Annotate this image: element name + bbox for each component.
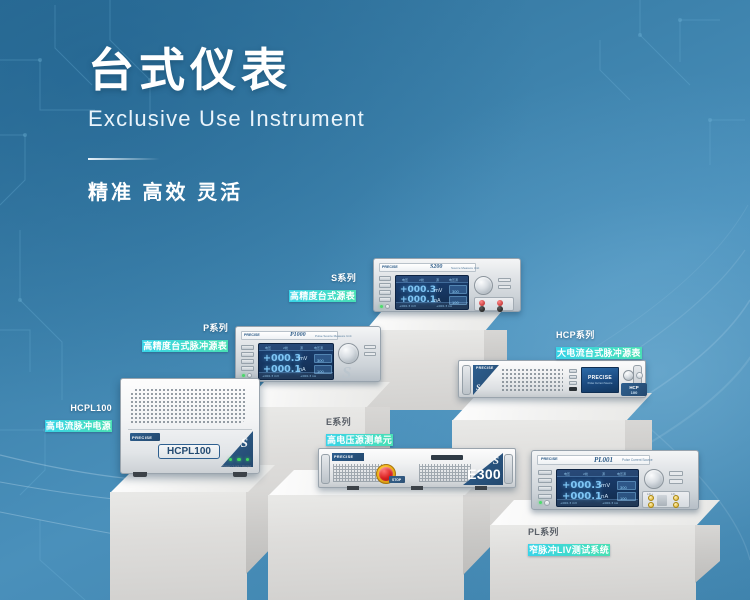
page-tagline: 精准 高效 灵活	[88, 176, 608, 205]
s-range-top: 300	[452, 289, 459, 294]
p-series-model-sub: Pulse Source Measure Unit	[315, 334, 352, 338]
pl-tab-1: 2线	[583, 472, 588, 476]
hcpl100-model-plate: HCPL100	[158, 444, 220, 459]
e300-vent-right	[419, 464, 471, 482]
p-series-screen: 电压 2线 源 电压源 +000.3 mV +000.1 nA 300 100 …	[258, 343, 334, 380]
s-tab-0: 电压	[402, 278, 408, 282]
e300-foot-3	[475, 486, 487, 490]
s-tab-2: 源	[436, 278, 439, 282]
device-s-series[interactable]: PRECISE S200 Source Measure Unit 电压 2线 源…	[373, 258, 521, 312]
hcpl100-vent-grille	[130, 388, 247, 424]
hcpl100-divider	[128, 429, 252, 430]
port-pd-plus[interactable]	[648, 502, 654, 508]
hcp-logo-mark: S	[476, 383, 480, 392]
page-subtitle-en: Exclusive Use Instrument	[88, 106, 608, 132]
s-tab-1: 2线	[419, 278, 424, 282]
hcpl100-foot-left	[133, 472, 147, 477]
callout-s-series-title: S系列	[256, 272, 356, 284]
pl-tab-2: 源	[602, 472, 605, 476]
p-series-logo-mark: S	[342, 363, 351, 383]
callout-e-series: E系列 高电压源测单元	[326, 416, 436, 450]
port-pd-minus[interactable]	[673, 502, 679, 508]
led-power	[229, 458, 232, 461]
s-series-softkey-2[interactable]	[379, 283, 391, 288]
header-divider	[88, 158, 160, 160]
s-series-aux-port[interactable]	[498, 285, 511, 289]
p-primary-unit: mV	[299, 356, 307, 362]
terminal-force-lo[interactable]	[479, 306, 485, 312]
p-series-softkey-1[interactable]	[241, 345, 254, 350]
p-footer-left-value: +000.3 mV	[262, 374, 279, 378]
e300-handle-right[interactable]	[504, 454, 513, 484]
p-range-top-box: 300	[314, 354, 332, 363]
s-tab-3: 电压源	[449, 278, 458, 282]
pl-series-softkey-4[interactable]	[538, 494, 552, 499]
callout-hcp-series-title: HCP系列	[556, 329, 656, 341]
pl-series-port-panel: LD+ LD-	[642, 491, 690, 508]
hcpl100-indicator-leds	[229, 458, 249, 461]
pl-series-rotary-knob[interactable]	[644, 469, 664, 489]
p-series-brand: PRECISE	[244, 333, 260, 337]
callout-hcpl100-desc: 高电流脉冲电源	[45, 420, 112, 432]
banner-header: 台式仪表 Exclusive Use Instrument 精准 高效 灵活	[88, 44, 608, 205]
pl-series-softkey-3[interactable]	[538, 486, 552, 491]
s-series-model-sub: Source Measure Unit	[451, 266, 479, 270]
hcpl100-indicator-label: Power / Lock / Output	[222, 464, 251, 468]
terminal-force-hi[interactable]	[479, 300, 485, 306]
e300-status-leds	[431, 455, 463, 460]
hcpl100-foot-right	[233, 472, 247, 477]
s-range-top-box: 300	[449, 285, 467, 294]
callout-hcpl100-title: HCPL100	[10, 402, 112, 414]
p-series-power-led	[242, 374, 245, 377]
p-footer-right-value: +000.3 nA	[300, 374, 316, 378]
pl-tab-3: 电压源	[617, 472, 626, 476]
p-series-softkey-3[interactable]	[241, 359, 254, 364]
s-series-softkey-1[interactable]	[379, 276, 391, 281]
p-tab-3: 电压源	[314, 346, 323, 350]
p-tab-0: 电压	[265, 346, 271, 350]
p-series-rotary-knob[interactable]	[338, 343, 359, 364]
s-series-power-button[interactable]	[385, 304, 390, 309]
callout-p-series: P系列 高精度台式脉冲源表	[110, 322, 228, 356]
callout-hcp-series: HCP系列 大电流台式脉冲源表	[556, 329, 656, 363]
callout-p-series-desc: 高精度台式脉冲源表	[142, 340, 228, 352]
pl-series-power-led	[539, 501, 542, 504]
e300-brand: PRECISE	[334, 455, 353, 459]
p-series-usb-port[interactable]	[364, 345, 376, 349]
pl-series-softkey-2[interactable]	[538, 478, 552, 483]
hcp-button-1[interactable]	[569, 369, 577, 373]
banner-stage: 台式仪表 Exclusive Use Instrument 精准 高效 灵活	[0, 0, 750, 600]
device-hcp-series[interactable]: PRECISE S PRECISE Pulse Current Source H…	[458, 360, 646, 398]
pl-series-brand: PRECISE	[541, 457, 558, 461]
pl-range-top-box: 300	[617, 481, 636, 490]
p-range-top: 300	[317, 358, 324, 363]
terminal-sense-hi[interactable]	[497, 300, 503, 306]
s-series-terminal-block	[474, 297, 514, 311]
p-series-softkey-4[interactable]	[241, 366, 254, 371]
callout-s-series-desc: 高精度台式源表	[289, 290, 356, 302]
device-pl-series[interactable]: PRECISE PL001 Pulse Current Source 电压 2线…	[531, 450, 699, 510]
s-primary-value: +000.3	[400, 285, 436, 295]
s-series-brand: PRECISE	[382, 265, 398, 269]
device-p-series[interactable]: PRECISE P1000 Pulse Source Measure Unit …	[235, 326, 381, 382]
terminal-sense-lo[interactable]	[497, 306, 503, 312]
s-series-softkey-3[interactable]	[379, 290, 391, 295]
pl-series-model: PL001	[594, 456, 613, 464]
hcp-button-3[interactable]	[569, 381, 577, 385]
e300-model: E300	[467, 466, 501, 482]
p-primary-value: +000.3	[263, 353, 301, 364]
led-output	[246, 458, 249, 461]
port-label-0: LD+	[647, 492, 654, 496]
p-series-softkey-2[interactable]	[241, 352, 254, 357]
device-hcpl100[interactable]: S PRECISE HCPL100 Power / Lock / Output	[120, 378, 260, 474]
pl-series-model-sub: Pulse Current Source	[622, 458, 652, 462]
hcp-screen-brand: PRECISE	[588, 375, 612, 381]
callout-p-series-title: P系列	[110, 322, 228, 334]
hcpl100-brand: PRECISE	[132, 435, 152, 440]
pl-series-usb-port[interactable]	[669, 471, 683, 476]
s-series-usb-port[interactable]	[498, 278, 511, 282]
hcp-button-2[interactable]	[569, 375, 577, 379]
device-e-series[interactable]: PRECISE STOP S E300	[318, 448, 516, 488]
pl-footer-left-value: +000.3 mV	[560, 501, 577, 505]
pl-footer-right-value: +000.3 nA	[602, 501, 618, 505]
hcpl100-corner-accent	[221, 431, 253, 467]
hcp-model-badge: HCP 100	[621, 383, 647, 396]
callout-e-series-title: E系列	[326, 416, 436, 428]
callout-pl-series-title: PL系列	[528, 526, 648, 538]
pl-series-softkey-1[interactable]	[538, 470, 552, 475]
page-title: 台式仪表	[88, 44, 608, 97]
p-series-model: P1000	[290, 332, 306, 338]
hcp-model-number: 100	[631, 390, 638, 395]
s-series-rotary-knob[interactable]	[474, 276, 493, 295]
e300-foot-2	[411, 486, 423, 490]
pl-series-power-button[interactable]	[544, 500, 550, 506]
s-series-screen: 电压 2线 源 电压源 +000.3 mV +000.1 nA 300 100 …	[395, 275, 469, 310]
hcp-brand: PRECISE	[476, 366, 494, 370]
port-label-1: LD-	[671, 492, 676, 496]
callout-hcpl100: HCPL100 高电流脉冲电源	[10, 402, 112, 436]
s-footer-left-value: +000.3 mV	[399, 304, 416, 308]
hcp-power-button[interactable]	[636, 372, 643, 379]
s-series-softkey-4[interactable]	[379, 297, 391, 302]
callout-pl-series-desc: 窄脉冲LIV测试系统	[528, 544, 610, 556]
callout-pl-series: PL系列 窄脉冲LIV测试系统	[528, 526, 648, 560]
p-tab-1: 2线	[283, 346, 288, 350]
e300-handle-left[interactable]	[321, 454, 330, 484]
pl-range-top: 300	[620, 485, 627, 490]
hcp-handle-left[interactable]	[462, 365, 471, 395]
callout-hcp-series-desc: 大电流台式脉冲源表	[556, 347, 642, 359]
s-series-model: S200	[430, 264, 442, 270]
hcp-usb-port[interactable]	[569, 387, 577, 391]
callout-s-series: S系列 高精度台式源表	[256, 272, 356, 306]
hcp-rotary-knob[interactable]	[623, 370, 634, 381]
pl-optical-connector[interactable]	[657, 495, 667, 506]
s-footer-right-value: +000.3 nA	[436, 304, 452, 308]
p-tab-2: 源	[300, 346, 303, 350]
hcp-screen-sub: Pulse Current Source	[588, 382, 613, 385]
s-series-power-led	[380, 305, 383, 308]
hcp-screen: PRECISE Pulse Current Source	[581, 367, 619, 393]
s-primary-unit: mV	[434, 288, 442, 294]
pl-primary-value: +000.3	[562, 480, 602, 491]
callout-e-series-desc: 高电压源测单元	[326, 434, 393, 446]
pl-tab-0: 电压	[564, 472, 570, 476]
pl-primary-unit: mV	[601, 483, 610, 489]
e300-estop-label: STOP	[392, 478, 401, 482]
e300-foot-1	[347, 486, 359, 490]
hcpl100-logo-mark: S	[241, 435, 248, 451]
hcp-vent-grille	[501, 368, 563, 392]
p-series-aux-port[interactable]	[364, 352, 376, 356]
led-lock	[237, 458, 240, 461]
pl-series-screen: 电压 2线 源 电压源 +000.3 mV +000.1 nA 300 100 …	[556, 469, 639, 507]
pl-series-aux-port[interactable]	[669, 479, 683, 484]
